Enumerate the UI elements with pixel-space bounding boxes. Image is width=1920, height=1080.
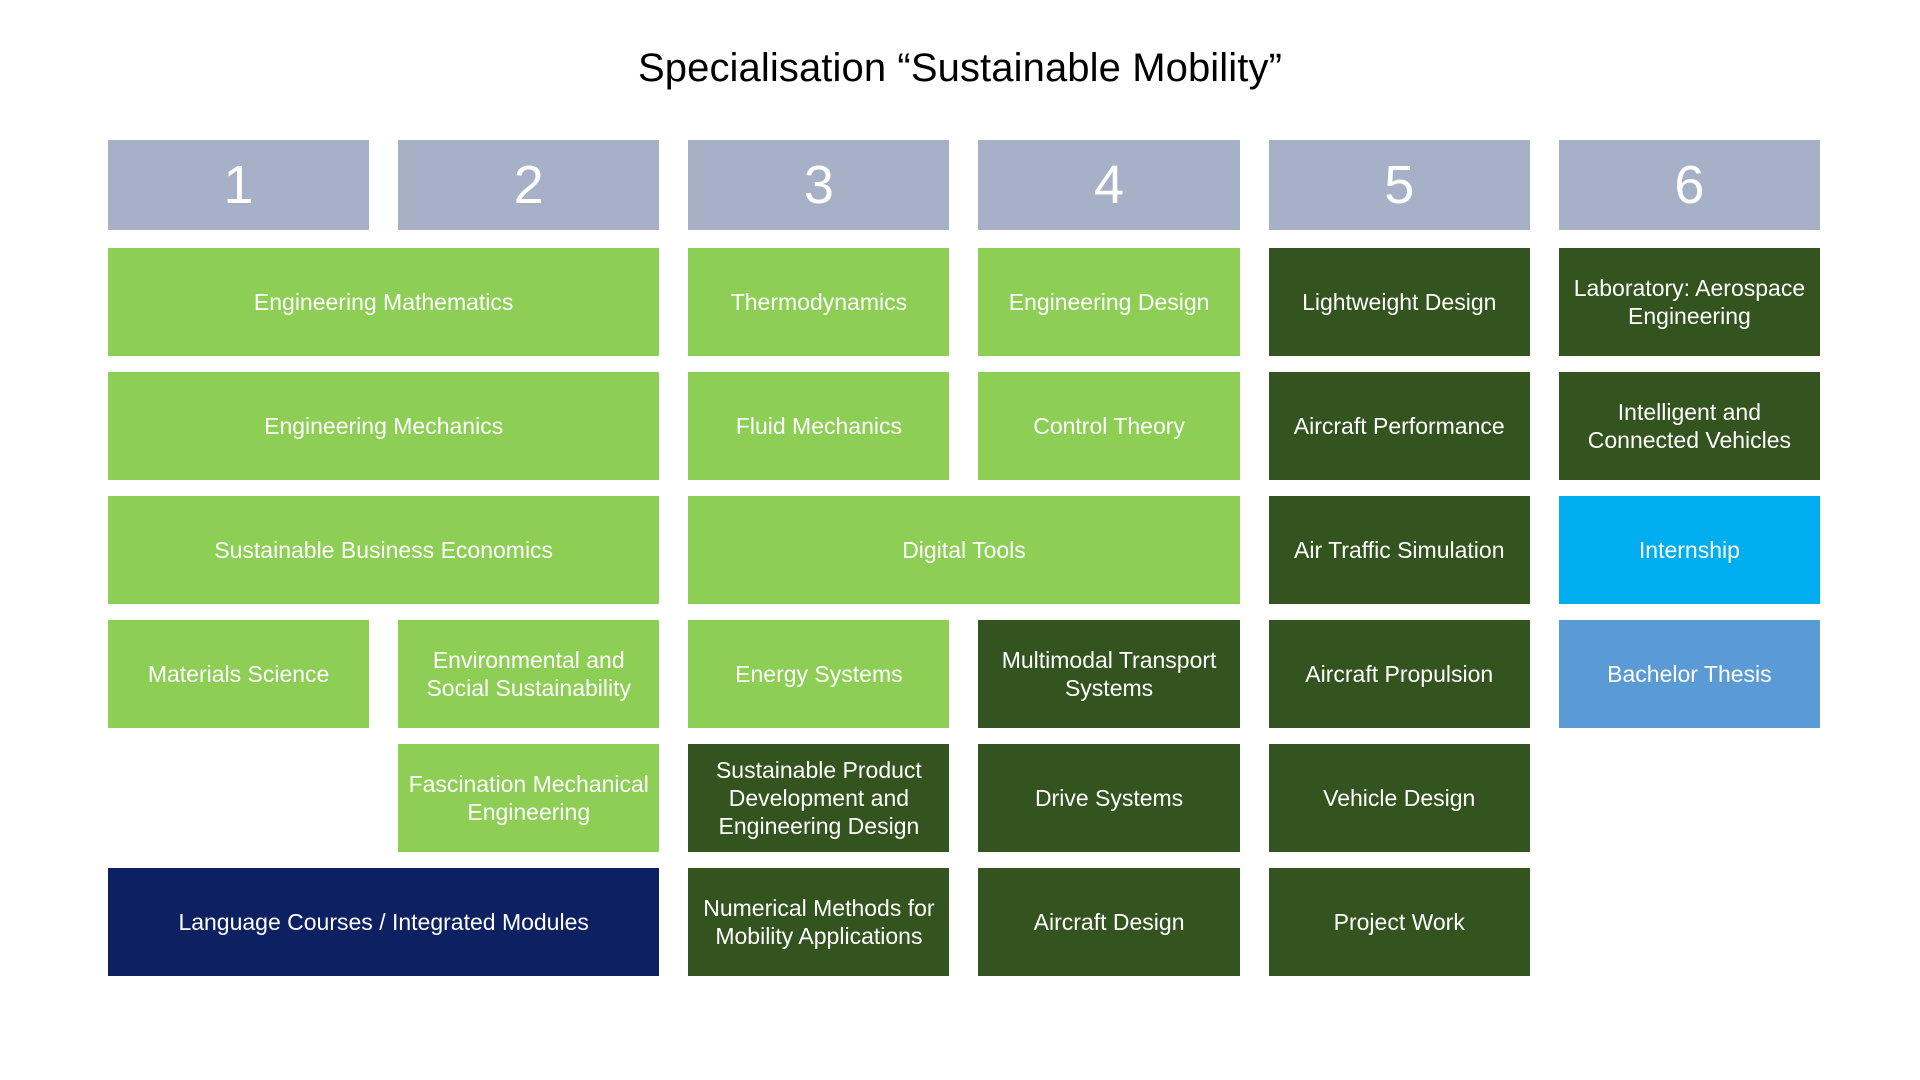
course-box[interactable]: Fluid Mechanics: [688, 372, 949, 480]
course-box[interactable]: Environmental and Social Sustainability: [398, 620, 659, 728]
course-box[interactable]: Project Work: [1269, 868, 1530, 976]
course-box[interactable]: Sustainable Product Development and Engi…: [688, 744, 949, 852]
course-box[interactable]: Internship: [1559, 496, 1820, 604]
course-box[interactable]: Materials Science: [108, 620, 369, 728]
course-box[interactable]: Aircraft Design: [978, 868, 1239, 976]
row-spacer: [108, 852, 1820, 868]
row-spacer: [108, 728, 1820, 744]
row-spacer: [108, 604, 1820, 620]
row-spacer: [108, 480, 1820, 496]
course-box[interactable]: Engineering Mechanics: [108, 372, 659, 480]
course-box[interactable]: Thermodynamics: [688, 248, 949, 356]
course-box[interactable]: Laboratory: Aerospace Engineering: [1559, 248, 1820, 356]
course-box[interactable]: Energy Systems: [688, 620, 949, 728]
row-spacer: [108, 356, 1820, 372]
course-box[interactable]: Vehicle Design: [1269, 744, 1530, 852]
curriculum-grid: 1 2 3 4 5 6 Engineering MathematicsTherm…: [108, 140, 1820, 976]
semester-header-5: 5: [1269, 140, 1530, 230]
course-box[interactable]: Numerical Methods for Mobility Applicati…: [688, 868, 949, 976]
course-box[interactable]: Aircraft Performance: [1269, 372, 1530, 480]
page-title: Specialisation “Sustainable Mobility”: [0, 44, 1920, 92]
curriculum-slide: Specialisation “Sustainable Mobility” 1 …: [0, 0, 1920, 1080]
course-box[interactable]: Drive Systems: [978, 744, 1239, 852]
course-box[interactable]: Intelligent and Connected Vehicles: [1559, 372, 1820, 480]
semester-header-4: 4: [978, 140, 1239, 230]
course-box[interactable]: Language Courses / Integrated Modules: [108, 868, 659, 976]
course-box[interactable]: Digital Tools: [688, 496, 1239, 604]
course-box[interactable]: Fascination Mechanical Engineering: [398, 744, 659, 852]
course-box[interactable]: Bachelor Thesis: [1559, 620, 1820, 728]
header-spacer: [108, 230, 1820, 248]
course-box[interactable]: Lightweight Design: [1269, 248, 1530, 356]
course-box[interactable]: Air Traffic Simulation: [1269, 496, 1530, 604]
semester-header-1: 1: [108, 140, 369, 230]
semester-header-6: 6: [1559, 140, 1820, 230]
course-box[interactable]: Aircraft Propulsion: [1269, 620, 1530, 728]
semester-header-3: 3: [688, 140, 949, 230]
course-box[interactable]: Sustainable Business Economics: [108, 496, 659, 604]
course-box[interactable]: Engineering Design: [978, 248, 1239, 356]
course-box[interactable]: Engineering Mathematics: [108, 248, 659, 356]
course-box[interactable]: Multimodal Transport Systems: [978, 620, 1239, 728]
course-box[interactable]: Control Theory: [978, 372, 1239, 480]
semester-header-2: 2: [398, 140, 659, 230]
